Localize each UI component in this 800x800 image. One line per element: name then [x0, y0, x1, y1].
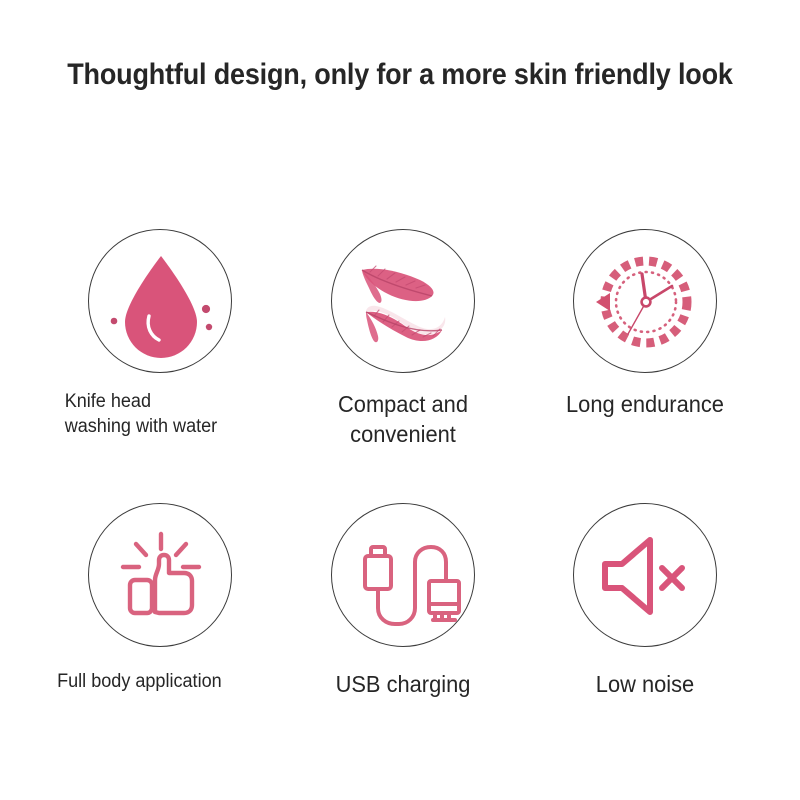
- feature-icon-circle: [88, 503, 232, 647]
- feature-icon-circle: [88, 229, 232, 373]
- thumbs-up-icon: [89, 504, 233, 648]
- feature-caption: USB charging: [289, 669, 517, 699]
- feature-caption: Full body application: [40, 669, 268, 694]
- feature-item-knife-head-washing: Knife head washing with water: [40, 229, 280, 439]
- speaker-mute-icon: [574, 504, 718, 648]
- feather-icon: [332, 230, 476, 374]
- feature-grid: Knife head washing with water: [0, 0, 800, 800]
- feature-item-compact-convenient: Compact and convenient: [283, 229, 523, 450]
- feature-caption: Low noise: [531, 669, 759, 699]
- feature-item-full-body-application: Full body application: [40, 503, 280, 694]
- feature-icon-circle: [573, 229, 717, 373]
- clock-endurance-icon: [574, 230, 718, 374]
- feature-item-long-endurance: Long endurance: [525, 229, 765, 419]
- feature-caption: Knife head washing with water: [40, 389, 268, 439]
- water-drop-icon: [89, 230, 233, 374]
- usb-cable-icon: [332, 504, 476, 648]
- feature-item-low-noise: Low noise: [525, 503, 765, 699]
- feature-icon-circle: [573, 503, 717, 647]
- feature-icon-circle: [331, 229, 475, 373]
- feature-caption: Compact and convenient: [289, 389, 517, 450]
- feature-icon-circle: [331, 503, 475, 647]
- feature-item-usb-charging: USB charging: [283, 503, 523, 699]
- feature-infographic: Thoughtful design, only for a more skin …: [0, 0, 800, 800]
- feature-caption: Long endurance: [531, 389, 759, 419]
